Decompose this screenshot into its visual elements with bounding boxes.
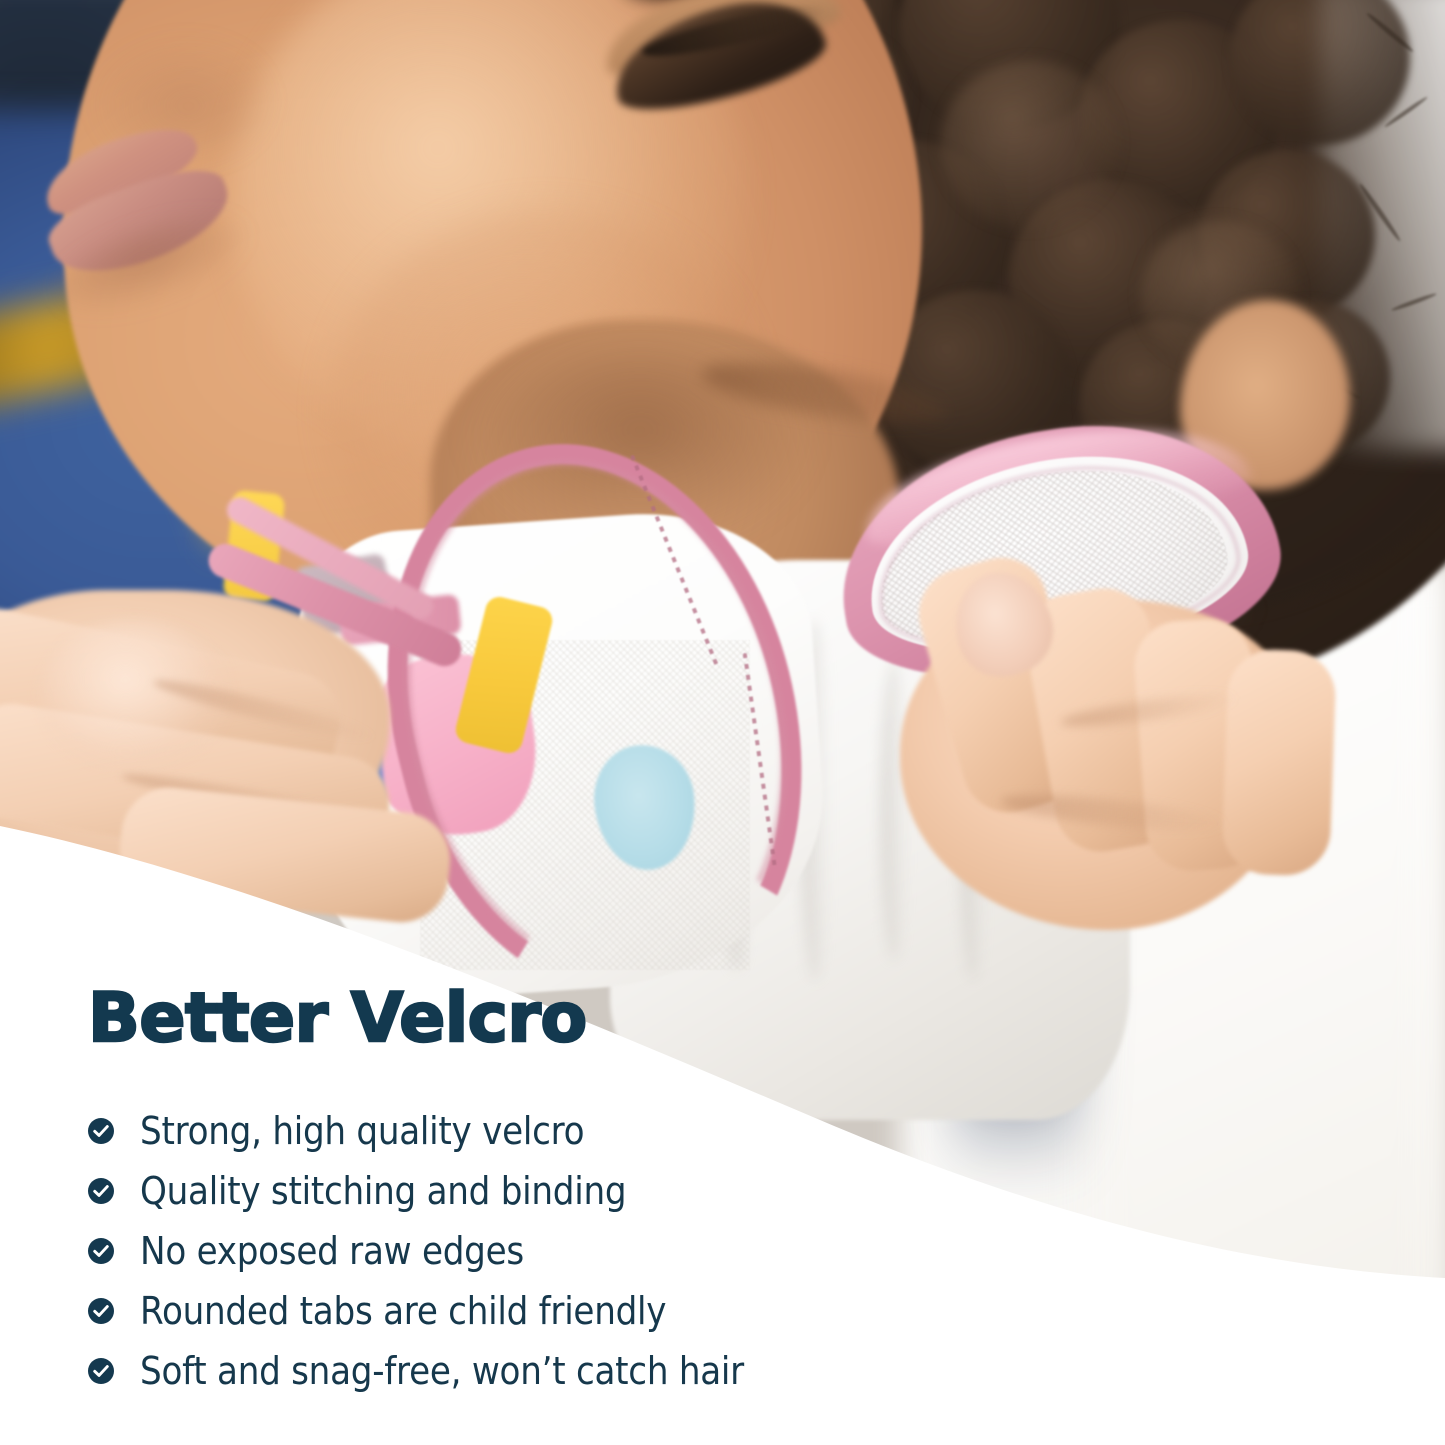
hair-highlight xyxy=(940,60,1120,230)
feature-content: Better Velcro Strong, high quality velcr… xyxy=(88,985,1088,1401)
page-title: Better Velcro xyxy=(88,985,1088,1053)
adult-right-little-finger xyxy=(1221,648,1337,877)
feature-label: Strong, high quality velcro xyxy=(140,1112,584,1150)
list-item: Quality stitching and binding xyxy=(88,1161,1088,1221)
feature-label: Rounded tabs are child friendly xyxy=(140,1292,666,1330)
check-circle-icon xyxy=(88,1118,114,1144)
shirt-fold xyxy=(880,660,908,960)
feature-label: Soft and snag-free, won’t catch hair xyxy=(140,1352,744,1390)
feature-label: No exposed raw edges xyxy=(140,1232,524,1270)
product-feature-card: Better Velcro Strong, high quality velcr… xyxy=(0,0,1445,1445)
check-circle-icon xyxy=(88,1358,114,1384)
list-item: No exposed raw edges xyxy=(88,1221,1088,1281)
list-item: Strong, high quality velcro xyxy=(88,1101,1088,1161)
feature-list: Strong, high quality velcro Quality stit… xyxy=(88,1101,1088,1401)
feature-label: Quality stitching and binding xyxy=(140,1172,626,1210)
check-circle-icon xyxy=(88,1298,114,1324)
check-circle-icon xyxy=(88,1238,114,1264)
list-item: Rounded tabs are child friendly xyxy=(88,1281,1088,1341)
check-circle-icon xyxy=(88,1178,114,1204)
list-item: Soft and snag-free, won’t catch hair xyxy=(88,1341,1088,1401)
